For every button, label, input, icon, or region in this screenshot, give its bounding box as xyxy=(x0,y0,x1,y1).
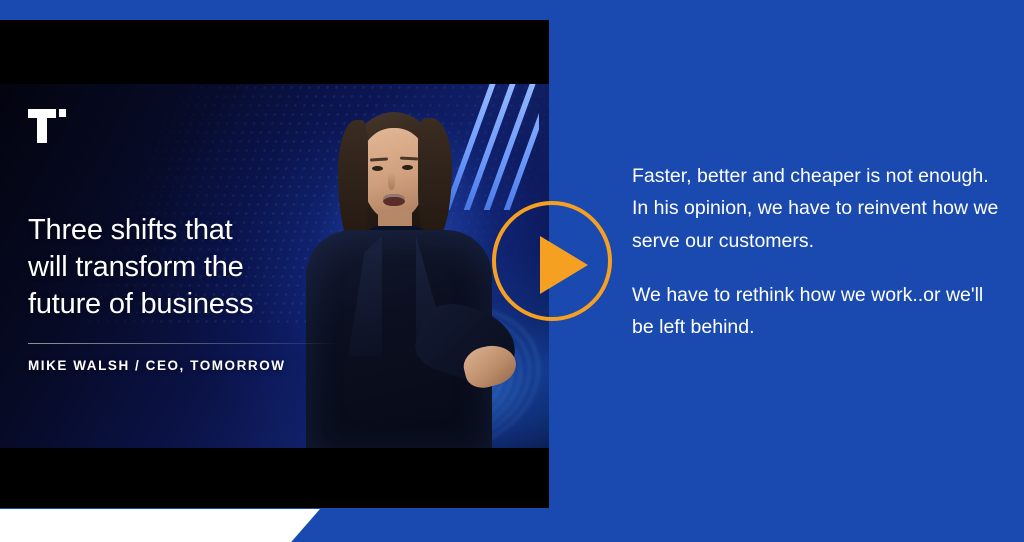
video-title-line-1: Three shifts that xyxy=(28,212,328,249)
video-byline: MIKE WALSH / CEO, TOMORROW xyxy=(28,358,286,373)
play-button[interactable] xyxy=(492,201,612,321)
tomorrow-t-logo-icon xyxy=(28,109,62,143)
play-triangle-icon xyxy=(540,236,588,294)
video-title-line-3: future of business xyxy=(28,286,328,323)
video-title-line-2: will transform the xyxy=(28,249,328,286)
quote-paragraph-2: We have to rethink how we work..or we'll… xyxy=(632,279,1004,344)
title-divider xyxy=(28,343,338,344)
quote-paragraph-1: Faster, better and cheaper is not enough… xyxy=(632,160,1004,257)
bottom-white-wedge xyxy=(0,509,320,542)
quote-block: Faster, better and cheaper is not enough… xyxy=(632,160,1004,344)
video-slide-frame: Three shifts that will transform the fut… xyxy=(0,84,549,448)
video-player-card[interactable]: Three shifts that will transform the fut… xyxy=(0,20,549,508)
video-title: Three shifts that will transform the fut… xyxy=(28,212,328,323)
